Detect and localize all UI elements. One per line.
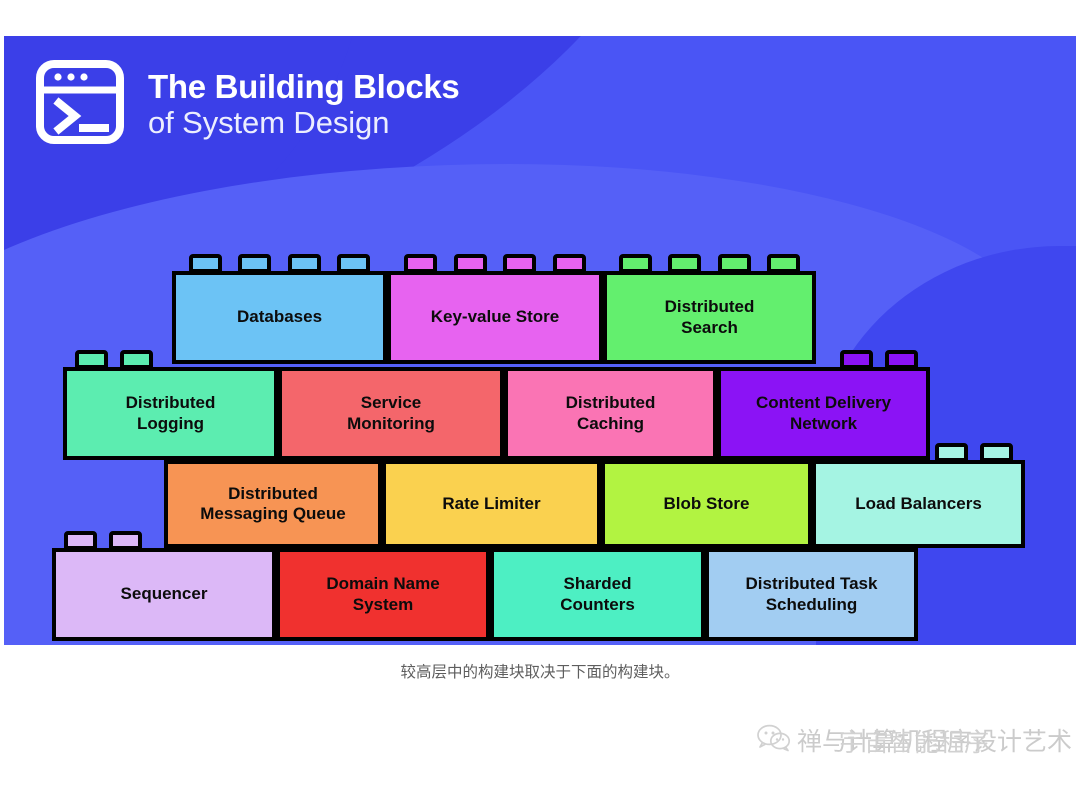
lego-brick[interactable]: DistributedSearch	[603, 271, 816, 364]
lego-brick[interactable]: DistributedLogging	[63, 367, 278, 460]
lego-brick[interactable]: Blob Store	[601, 460, 812, 548]
lego-brick-label: DistributedMessaging Queue	[200, 484, 345, 524]
wechat-icon	[757, 724, 791, 757]
lego-brick[interactable]: Load Balancers	[812, 460, 1025, 548]
lego-brick[interactable]: Key-value Store	[387, 271, 603, 364]
lego-brick-label: Sequencer	[121, 584, 208, 604]
lego-brick[interactable]: Distributed TaskScheduling	[705, 548, 918, 641]
lego-brick-label: DistributedCaching	[566, 393, 656, 433]
lego-brick[interactable]: Sequencer	[52, 548, 276, 641]
lego-brick-label: DistributedLogging	[126, 393, 216, 433]
lego-brick[interactable]: ShardedCounters	[490, 548, 705, 641]
watermark: 禅与计算机程序设计艺术 宇宙智能程序	[757, 722, 1072, 758]
lego-brick-label: Blob Store	[664, 494, 750, 514]
lego-brick-label: Content DeliveryNetwork	[756, 393, 891, 433]
title-line-2: of System Design	[148, 107, 460, 139]
caption: 较高层中的构建块取决于下面的构建块。	[0, 660, 1080, 682]
terminal-icon	[34, 56, 126, 153]
lego-brick-label: Distributed TaskScheduling	[746, 574, 878, 614]
lego-brick-label: Domain NameSystem	[326, 574, 439, 614]
lego-brick-label: Load Balancers	[855, 494, 982, 514]
lego-brick-label: DistributedSearch	[665, 297, 755, 337]
lego-brick-label: ServiceMonitoring	[347, 393, 435, 433]
lego-brick[interactable]: ServiceMonitoring	[278, 367, 504, 460]
lego-brick-label: Databases	[237, 307, 322, 327]
lego-brick-label: Rate Limiter	[442, 494, 540, 514]
lego-brick-label: Key-value Store	[431, 307, 560, 327]
title-line-1: The Building Blocks	[148, 70, 460, 104]
lego-brick[interactable]: Databases	[172, 271, 387, 364]
lego-brick[interactable]: DistributedCaching	[504, 367, 717, 460]
hero-panel: The Building Blocks of System Design Dat…	[4, 36, 1076, 645]
lego-brick[interactable]: Rate Limiter	[382, 460, 601, 548]
page-title: The Building Blocks of System Design	[148, 70, 460, 140]
lego-brick[interactable]: Domain NameSystem	[276, 548, 490, 641]
lego-brick-label: ShardedCounters	[560, 574, 635, 614]
header: The Building Blocks of System Design	[34, 56, 460, 153]
lego-brick[interactable]: Content DeliveryNetwork	[717, 367, 930, 460]
watermark-text: 禅与计算机程序设计艺术 宇宙智能程序	[797, 722, 1072, 758]
watermark-text-overlay: 宇宙智能程序	[839, 723, 989, 759]
lego-brick[interactable]: DistributedMessaging Queue	[164, 460, 382, 548]
